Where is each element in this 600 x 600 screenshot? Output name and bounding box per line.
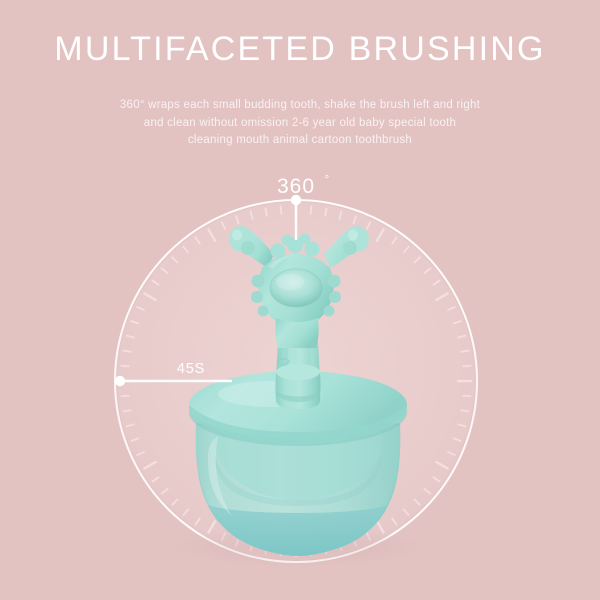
duration-callout-leader — [115, 376, 232, 386]
rotation-callout-value: 360 — [277, 175, 315, 198]
callout-layer: 360 ° 45S — [0, 0, 600, 600]
promo-banner: 360 ° 45S MULTIFACETED BRUSHING 360° wra… — [0, 0, 600, 600]
subtitle-line-1: 360° wraps each small budding tooth, sha… — [70, 97, 530, 115]
rotation-callout-leader — [291, 195, 301, 240]
subtitle-line-2: and clean without omission 2-6 year old … — [70, 115, 530, 133]
duration-callout-value: 45S — [177, 361, 205, 377]
page-title: MULTIFACETED BRUSHING — [0, 32, 600, 66]
subtitle-line-3: cleaning mouth animal cartoon toothbrush — [70, 132, 530, 150]
page-subtitle: 360° wraps each small budding tooth, sha… — [70, 97, 530, 150]
rotation-callout-unit: ° — [325, 174, 329, 186]
